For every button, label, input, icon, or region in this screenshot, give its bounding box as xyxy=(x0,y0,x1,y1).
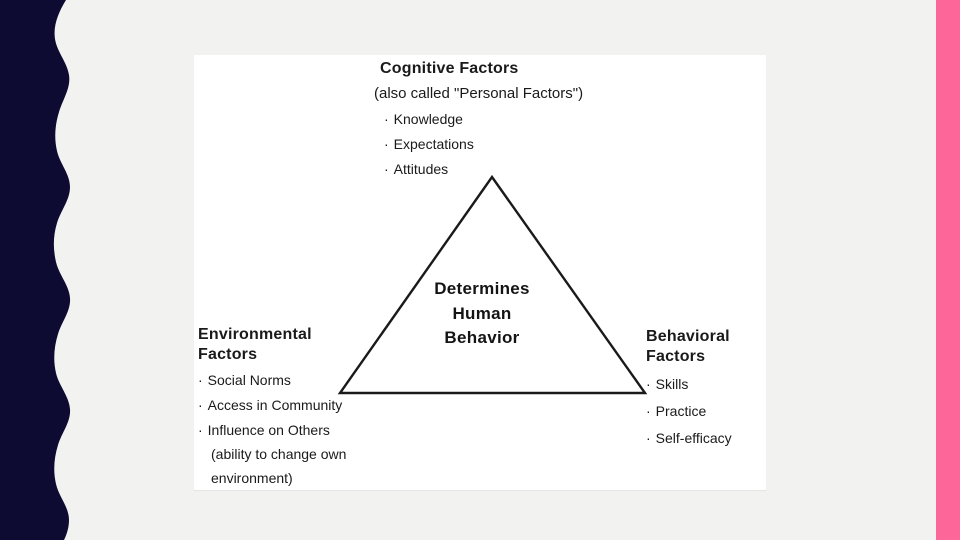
environmental-bullet-1: ·Social Norms xyxy=(198,372,346,389)
behavioral-bullet-1: ·Skills xyxy=(646,376,732,393)
cognitive-bullet-2: ·Expectations xyxy=(384,136,583,153)
bullet-dot-icon: · xyxy=(198,397,203,413)
cognitive-factors-group: Cognitive Factors (also called "Personal… xyxy=(374,59,583,178)
wavy-edge-decoration xyxy=(0,0,80,540)
bullet-dot-icon: · xyxy=(384,136,389,152)
environmental-bullet-3-label: Influence on Others xyxy=(208,422,330,438)
cognitive-bullet-2-label: Expectations xyxy=(394,136,474,152)
environmental-bullet-3: ·Influence on Others xyxy=(198,422,346,439)
behavioral-bullet-3: ·Self-efficacy xyxy=(646,430,732,447)
behavioral-factors-title-line2: Factors xyxy=(646,347,732,367)
bullet-dot-icon: · xyxy=(384,161,389,177)
slide-canvas: Determines Human Behavior Cognitive Fact… xyxy=(0,0,960,540)
environmental-bullet-1-label: Social Norms xyxy=(208,372,291,388)
environmental-factors-title-line1: Environmental xyxy=(198,325,346,345)
bullet-dot-icon: · xyxy=(646,403,651,419)
bullet-dot-icon: · xyxy=(384,111,389,127)
cognitive-bullet-1-label: Knowledge xyxy=(394,111,463,127)
wave-shape xyxy=(0,0,70,540)
environmental-bullet-2: ·Access in Community xyxy=(198,397,346,414)
center-label-line1: Determines xyxy=(422,277,542,302)
accent-stripe xyxy=(936,0,960,540)
center-label-line2: Human xyxy=(422,302,542,327)
cognitive-bullet-1: ·Knowledge xyxy=(384,111,583,128)
behavioral-factors-title-line1: Behavioral xyxy=(646,327,732,347)
center-label: Determines Human Behavior xyxy=(422,277,542,351)
behavioral-bullet-2-label: Practice xyxy=(656,403,707,419)
cognitive-bullet-3: ·Attitudes xyxy=(384,161,583,178)
environmental-continuation-line2: environment) xyxy=(198,470,346,487)
bullet-dot-icon: · xyxy=(198,422,203,438)
bullet-dot-icon: · xyxy=(198,372,203,388)
environmental-bullet-2-label: Access in Community xyxy=(208,397,343,413)
cognitive-factors-subtitle: (also called "Personal Factors") xyxy=(374,85,583,103)
environmental-factors-title-line2: Factors xyxy=(198,345,346,365)
center-label-line3: Behavior xyxy=(422,326,542,351)
cognitive-factors-title: Cognitive Factors xyxy=(380,59,583,79)
bullet-dot-icon: · xyxy=(646,430,651,446)
diagram-card: Determines Human Behavior Cognitive Fact… xyxy=(194,55,766,490)
bullet-dot-icon: · xyxy=(646,376,651,392)
behavioral-bullet-2: ·Practice xyxy=(646,403,732,420)
behavioral-bullet-3-label: Self-efficacy xyxy=(656,430,732,446)
environmental-continuation-line1: (ability to change own xyxy=(198,446,346,463)
environmental-factors-group: Environmental Factors ·Social Norms ·Acc… xyxy=(198,325,346,487)
behavioral-factors-group: Behavioral Factors ·Skills ·Practice ·Se… xyxy=(646,327,732,447)
cognitive-bullet-3-label: Attitudes xyxy=(394,161,448,177)
behavioral-bullet-1-label: Skills xyxy=(656,376,689,392)
